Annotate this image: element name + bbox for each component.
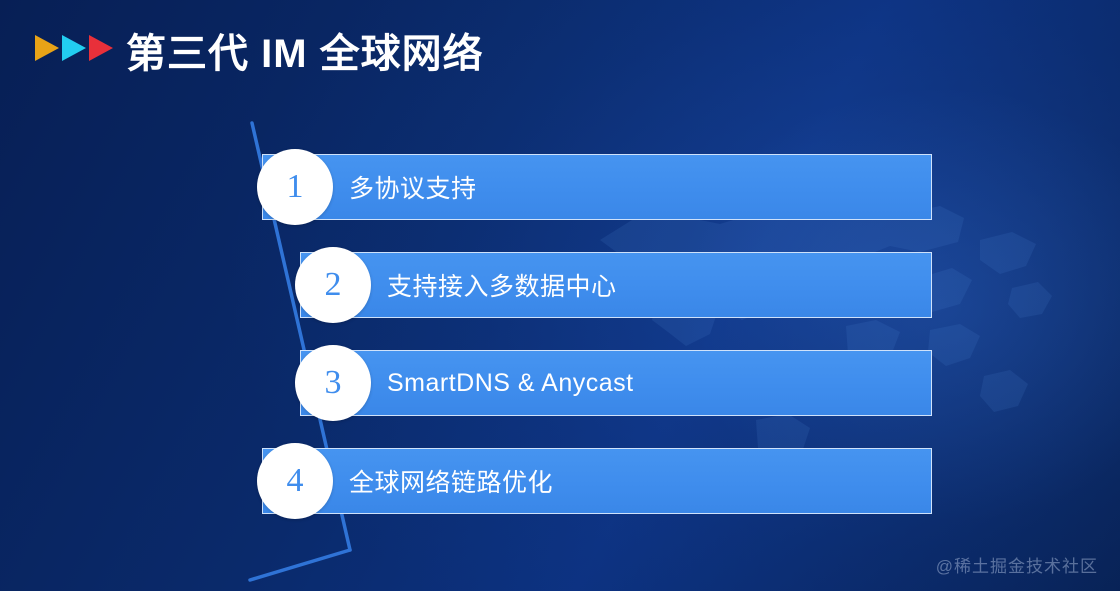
- item-number: 3: [325, 366, 342, 400]
- item-bar[interactable]: SmartDNS & Anycast: [300, 350, 932, 416]
- item-number-badge: 2: [295, 247, 371, 323]
- list-item[interactable]: SmartDNS & Anycast 3: [0, 350, 1120, 416]
- list-item[interactable]: 全球网络链路优化 4: [0, 448, 1120, 514]
- item-bar[interactable]: 支持接入多数据中心: [300, 252, 932, 318]
- item-number: 2: [325, 268, 342, 302]
- item-bar[interactable]: 全球网络链路优化: [262, 448, 932, 514]
- item-label: 全球网络链路优化: [349, 463, 553, 499]
- list-item[interactable]: 多协议支持 1: [0, 154, 1120, 220]
- triangle-bullets: [35, 35, 113, 61]
- slide-root: 第三代 IM 全球网络 多协议支持 1 支持接入多数据中心 2 SmartDNS…: [0, 0, 1120, 591]
- triangle-orange-icon: [35, 35, 59, 61]
- triangle-cyan-icon: [62, 35, 86, 61]
- slide-header: 第三代 IM 全球网络: [0, 0, 1120, 96]
- list-item[interactable]: 支持接入多数据中心 2: [0, 252, 1120, 318]
- item-number-badge: 3: [295, 345, 371, 421]
- page-title: 第三代 IM 全球网络: [126, 21, 484, 79]
- triangle-red-icon: [89, 35, 113, 61]
- item-number: 4: [287, 464, 304, 498]
- item-bar[interactable]: 多协议支持: [262, 154, 932, 220]
- item-label: 多协议支持: [349, 169, 477, 205]
- item-label: 支持接入多数据中心: [387, 267, 617, 303]
- item-label: SmartDNS & Anycast: [387, 369, 634, 398]
- item-number: 1: [287, 170, 304, 204]
- item-number-badge: 1: [257, 149, 333, 225]
- item-number-badge: 4: [257, 443, 333, 519]
- watermark: @稀土掘金技术社区: [936, 552, 1098, 577]
